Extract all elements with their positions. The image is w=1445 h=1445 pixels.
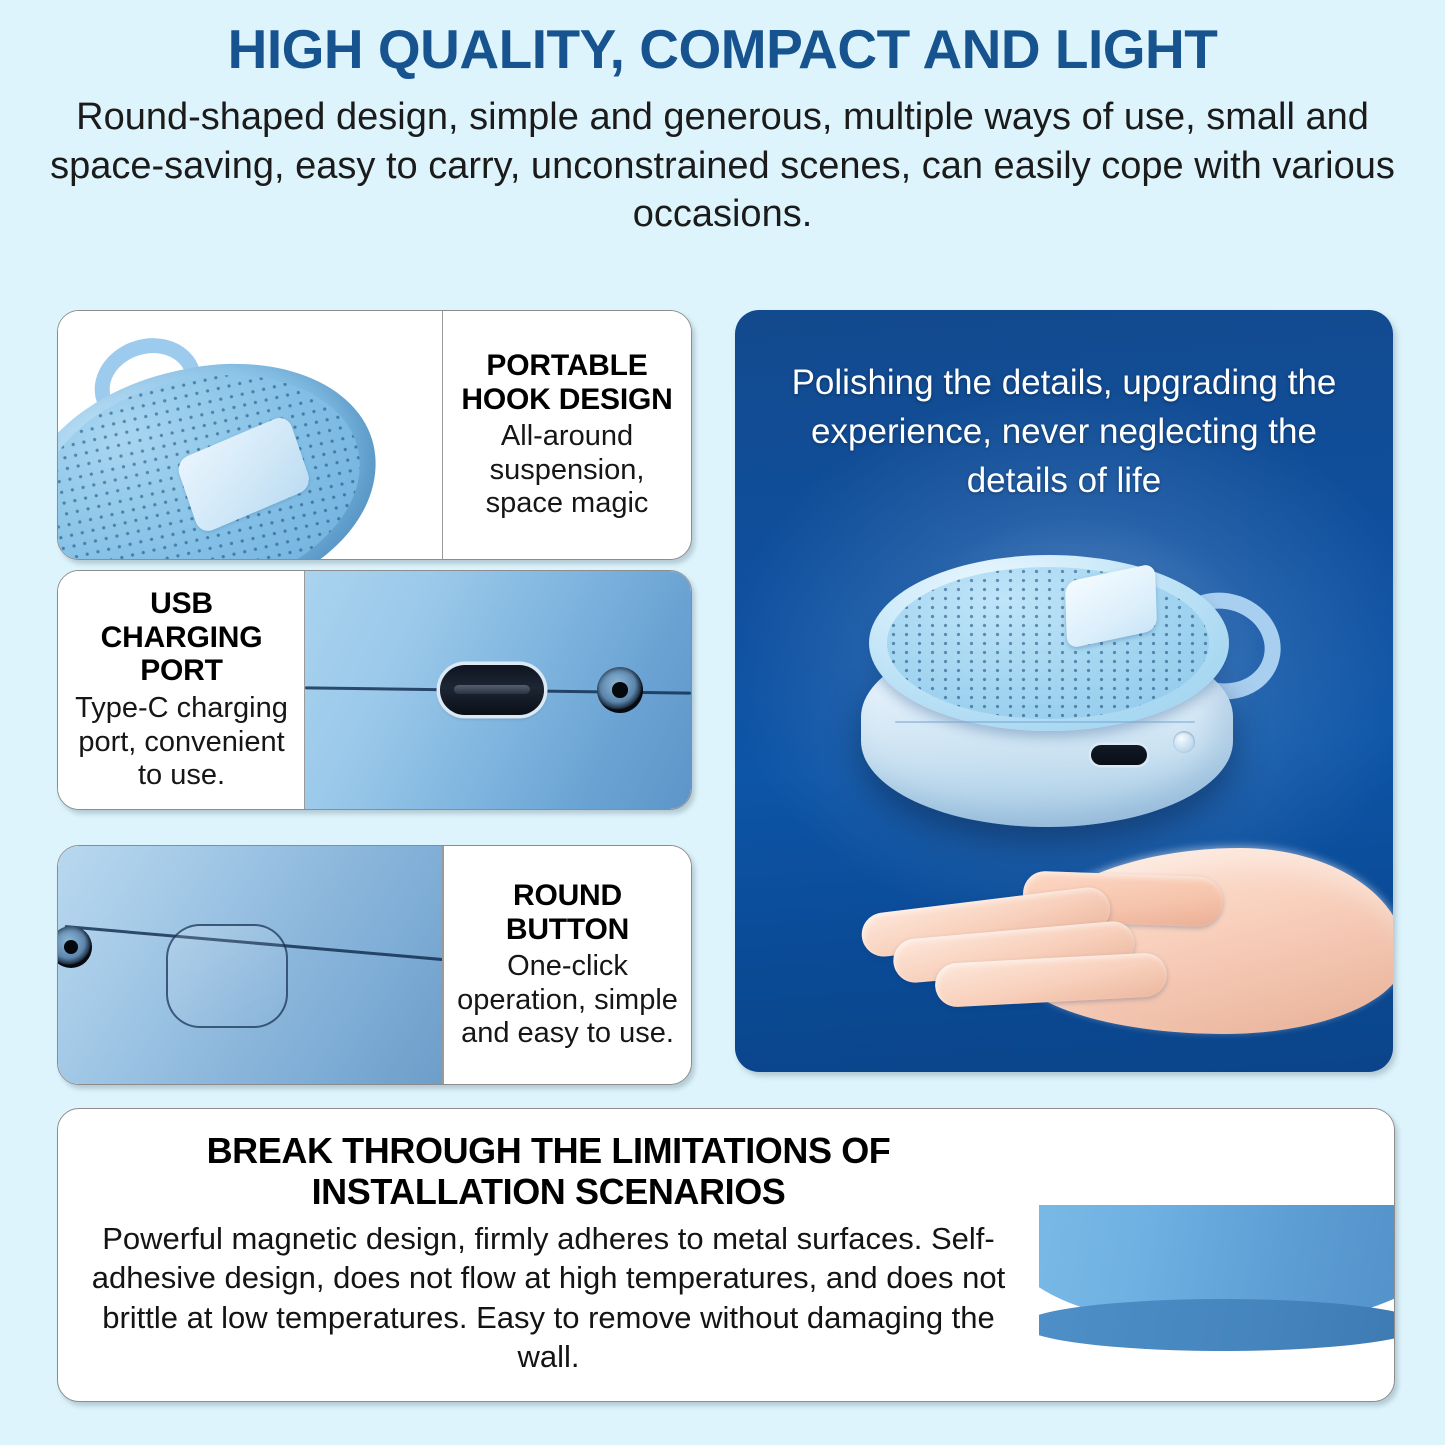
header-block: HIGH QUALITY, COMPACT AND LIGHT Round-sh… <box>0 0 1445 239</box>
feature-title: PORTABLE HOOK DESIGN <box>451 349 683 416</box>
installation-description: Powerful magnetic design, firmly adheres… <box>76 1219 1021 1376</box>
installation-text-block: BREAK THROUGH THE LIMITATIONS OF INSTALL… <box>58 1109 1039 1401</box>
hook-design-image <box>58 311 443 559</box>
microphone-hole-icon <box>58 926 92 968</box>
hook-design-text: PORTABLE HOOK DESIGN All-around suspensi… <box>443 311 691 559</box>
speaker-grille <box>887 567 1209 719</box>
hero-hand-image <box>805 786 1393 1046</box>
usb-port-image <box>305 571 691 809</box>
feature-card-hook: PORTABLE HOOK DESIGN All-around suspensi… <box>57 310 692 560</box>
feature-description: Type-C charging port, convenient to use. <box>66 692 297 793</box>
page-title: HIGH QUALITY, COMPACT AND LIGHT <box>0 22 1445 77</box>
feature-description: One-click operation, simple and easy to … <box>452 950 683 1051</box>
feature-description: All-around suspension, space magic <box>451 420 683 521</box>
usb-c-port-icon <box>440 665 544 715</box>
usb-port-text: USB CHARGING PORT Type-C charging port, … <box>58 571 305 809</box>
speaker-surface <box>58 846 444 1084</box>
power-button-icon <box>1173 731 1195 753</box>
speaker-hook-illustration <box>58 311 443 559</box>
page-subtitle: Round-shaped design, simple and generous… <box>42 93 1403 239</box>
installation-scenarios-card: BREAK THROUGH THE LIMITATIONS OF INSTALL… <box>57 1108 1395 1402</box>
usb-c-port-icon <box>1091 745 1147 765</box>
round-button-text: ROUND BUTTON One-click operation, simple… <box>444 846 691 1084</box>
microphone-hole-icon <box>597 667 643 713</box>
speaker-top-shell <box>869 555 1229 731</box>
power-button-icon <box>166 924 288 1028</box>
feature-card-usb: USB CHARGING PORT Type-C charging port, … <box>57 570 692 810</box>
hero-panel: Polishing the details, upgrading the exp… <box>735 310 1393 1072</box>
installation-title: BREAK THROUGH THE LIMITATIONS OF INSTALL… <box>76 1130 1021 1214</box>
magnetic-base-image <box>1039 1109 1394 1401</box>
speaker-surface <box>305 571 691 809</box>
speaker-base-underside <box>1039 1299 1394 1351</box>
round-button-image <box>58 846 444 1084</box>
feature-title: USB CHARGING PORT <box>66 587 297 688</box>
feature-title: ROUND BUTTON <box>452 879 683 946</box>
hero-caption: Polishing the details, upgrading the exp… <box>775 358 1353 505</box>
feature-card-button: ROUND BUTTON One-click operation, simple… <box>57 845 692 1085</box>
grille-dot-pattern <box>887 567 1209 719</box>
housing-seam-line <box>895 721 1195 723</box>
